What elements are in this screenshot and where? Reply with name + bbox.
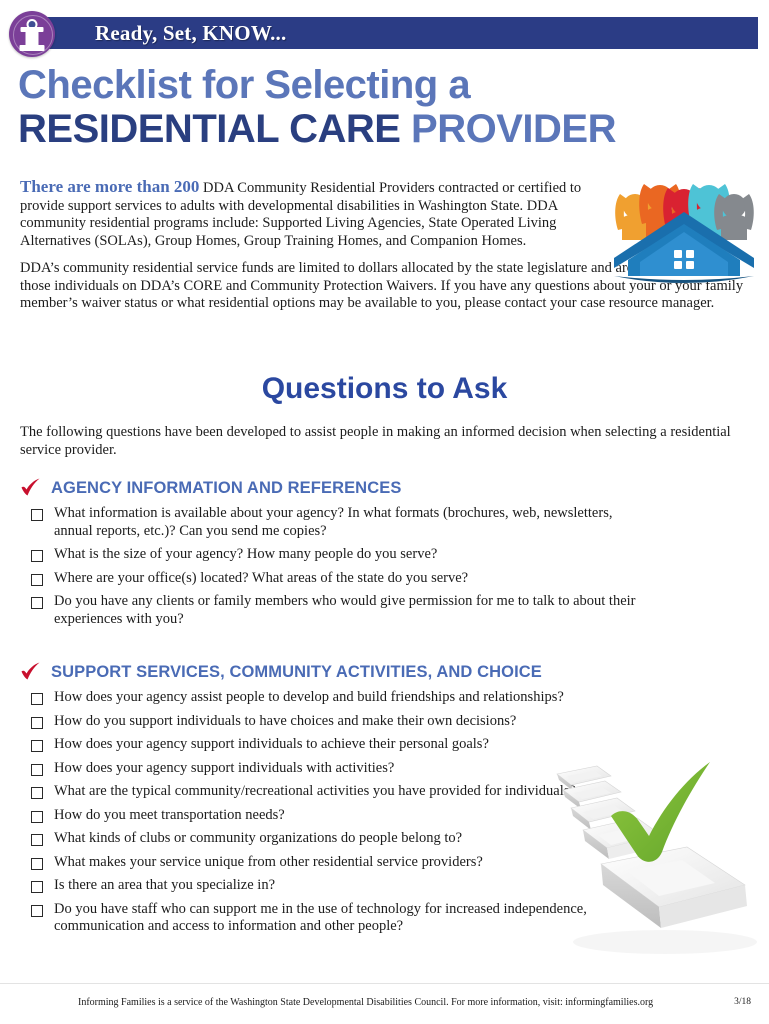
checklist-item[interactable]: What information is available about your… [20,505,750,540]
red-checkmark-icon [20,478,42,498]
checklist-item[interactable]: What is the size of your agency? How man… [20,546,750,564]
house-with-people-logo [608,172,764,284]
checklist-item-label: What are the typical community/recreatio… [54,783,576,801]
section-header: SUPPORT SERVICES, COMMUNITY ACTIVITIES, … [20,662,750,682]
checkbox-icon[interactable] [31,881,43,893]
checklist-item-label: Do you have any clients or family member… [54,593,654,628]
checklist-item[interactable]: How does your agency support individuals… [20,760,750,778]
checkbox-icon[interactable] [31,550,43,562]
checklist-items: What information is available about your… [20,505,750,628]
checklist-items: How does your agency assist people to de… [20,689,750,936]
checkbox-icon[interactable] [31,834,43,846]
checkbox-icon[interactable] [31,693,43,705]
intro-paragraph-1: There are more than 200 DDA Community Re… [20,178,610,250]
title-line-1: Checklist for Selecting a [18,63,748,107]
checklist-item[interactable]: How do you meet transportation needs? [20,807,750,825]
checklist-item[interactable]: Do you have staff who can support me in … [20,901,750,936]
checklist-section-support-services: SUPPORT SERVICES, COMMUNITY ACTIVITIES, … [20,662,750,942]
checkbox-icon[interactable] [31,905,43,917]
red-checkmark-icon [20,662,42,682]
intro-lead-in: There are more than 200 [20,177,199,196]
checkbox-icon[interactable] [31,509,43,521]
checklist-item-label: How does your agency support individuals… [54,760,394,778]
checklist-item[interactable]: What kinds of clubs or community organiz… [20,830,750,848]
checklist-item[interactable]: How does your agency assist people to de… [20,689,750,707]
footer-page-number: 3/18 [734,996,751,1009]
footer-text: Informing Families is a service of the W… [78,996,653,1009]
checkbox-icon[interactable] [31,717,43,729]
checklist-item-label: What is the size of your agency? How man… [54,546,437,564]
checklist-item-label: How do you support individuals to have c… [54,713,516,731]
checklist-item-label: What information is available about your… [54,505,654,540]
checklist-item[interactable]: How does your agency support individuals… [20,736,750,754]
checklist-item-label: Do you have staff who can support me in … [54,901,654,936]
section-header: AGENCY INFORMATION AND REFERENCES [20,478,750,498]
section-title: SUPPORT SERVICES, COMMUNITY ACTIVITIES, … [51,662,542,682]
questions-heading: Questions to Ask [0,372,769,406]
page-title: Checklist for Selecting a RESIDENTIAL CA… [18,63,748,152]
checkbox-icon[interactable] [31,858,43,870]
checklist-item-label: How does your agency assist people to de… [54,689,564,707]
checklist-item[interactable]: Where are your office(s) located? What a… [20,570,750,588]
checklist-item[interactable]: Is there an area that you specialize in? [20,877,750,895]
checklist-item[interactable]: How do you support individuals to have c… [20,713,750,731]
checkbox-icon[interactable] [31,574,43,586]
checklist-item-label: What kinds of clubs or community organiz… [54,830,462,848]
page-footer: Informing Families is a service of the W… [0,983,769,1024]
questions-subtitle: The following questions have been develo… [20,424,745,459]
checklist-item[interactable]: What makes your service unique from othe… [20,854,750,872]
checklist-item-label: What makes your service unique from othe… [54,854,483,872]
document-page: Ready, Set, KNOW... Checklist for Select… [0,0,769,1024]
banner-title: Ready, Set, KNOW... [95,20,286,46]
checklist-item-label: How does your agency support individuals… [54,736,489,754]
title-line-2: RESIDENTIAL CARE PROVIDER [18,107,748,152]
checklist-section-agency-information: AGENCY INFORMATION AND REFERENCES What i… [20,478,750,634]
checklist-item-label: How do you meet transportation needs? [54,807,285,825]
checklist-item[interactable]: Do you have any clients or family member… [20,593,750,628]
title-light: PROVIDER [400,107,616,151]
checklist-item-label: Where are your office(s) located? What a… [54,570,468,588]
checkbox-icon[interactable] [31,787,43,799]
checkbox-icon[interactable] [31,764,43,776]
checklist-item-label: Is there an area that you specialize in? [54,877,275,895]
section-title: AGENCY INFORMATION AND REFERENCES [51,478,401,498]
checklist-item[interactable]: What are the typical community/recreatio… [20,783,750,801]
checkbox-icon[interactable] [31,740,43,752]
checkbox-icon[interactable] [31,597,43,609]
page-header: Ready, Set, KNOW... [0,0,769,62]
info-icon [9,11,55,57]
checkbox-icon[interactable] [31,811,43,823]
title-strong: RESIDENTIAL CARE [18,107,400,151]
